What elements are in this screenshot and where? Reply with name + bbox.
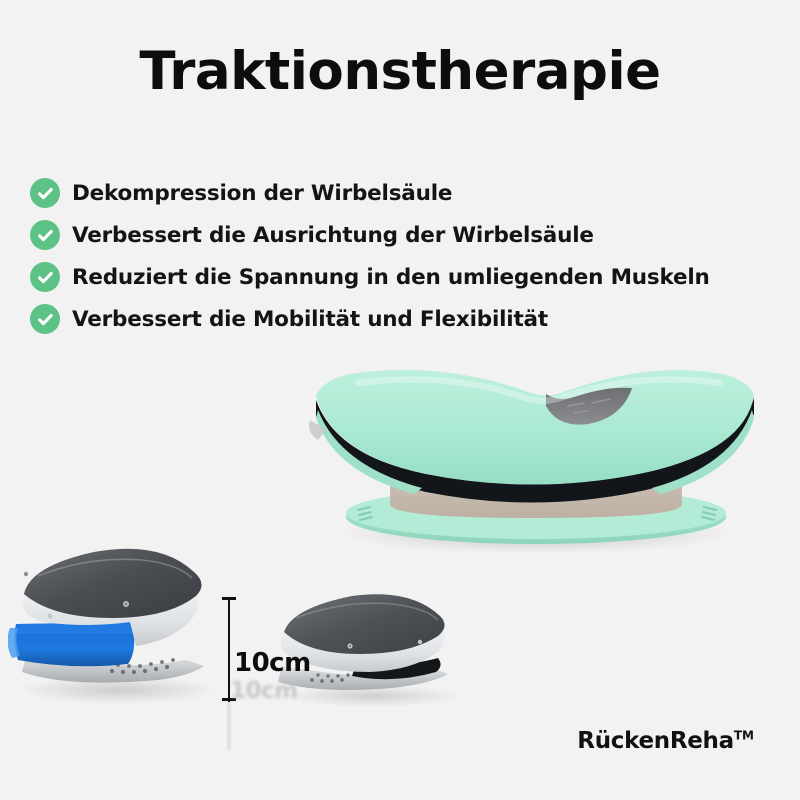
product-infographic: Traktionstherapie Dekompression der Wirb… xyxy=(0,0,800,800)
benefit-label: Dekompression der Wirbelsäule xyxy=(72,181,452,206)
brand-name: RückenReha xyxy=(577,728,734,754)
dimension-ghost-line xyxy=(228,700,230,750)
benefits-list: Dekompression der Wirbelsäule Verbessert… xyxy=(30,178,790,346)
check-circle-icon xyxy=(30,262,60,292)
dimension-cap-top xyxy=(222,597,236,600)
check-circle-icon xyxy=(30,178,60,208)
benefit-item: Verbessert die Ausrichtung der Wirbelsäu… xyxy=(30,220,790,250)
height-dimension-callout: 10cm 10cm xyxy=(220,594,330,706)
dimension-label: 10cm xyxy=(234,648,311,678)
benefit-label: Reduziert die Spannung in den umliegende… xyxy=(72,265,710,290)
inset-cutaway-image xyxy=(8,538,248,708)
hero-product-image xyxy=(296,362,766,557)
benefit-item: Dekompression der Wirbelsäule xyxy=(30,178,790,208)
check-circle-icon xyxy=(30,220,60,250)
brand-wordmark: RückenRehaTM xyxy=(577,728,754,754)
page-title: Traktionstherapie xyxy=(0,44,800,100)
trademark-symbol: TM xyxy=(734,728,754,742)
benefit-item: Reduziert die Spannung in den umliegende… xyxy=(30,262,790,292)
benefit-label: Verbessert die Ausrichtung der Wirbelsäu… xyxy=(72,223,594,248)
check-circle-icon xyxy=(30,304,60,334)
benefit-label: Verbessert die Mobilität und Flexibilitä… xyxy=(72,307,548,332)
dimension-ghost-label: 10cm xyxy=(230,678,298,704)
benefit-item: Verbessert die Mobilität und Flexibilitä… xyxy=(30,304,790,334)
